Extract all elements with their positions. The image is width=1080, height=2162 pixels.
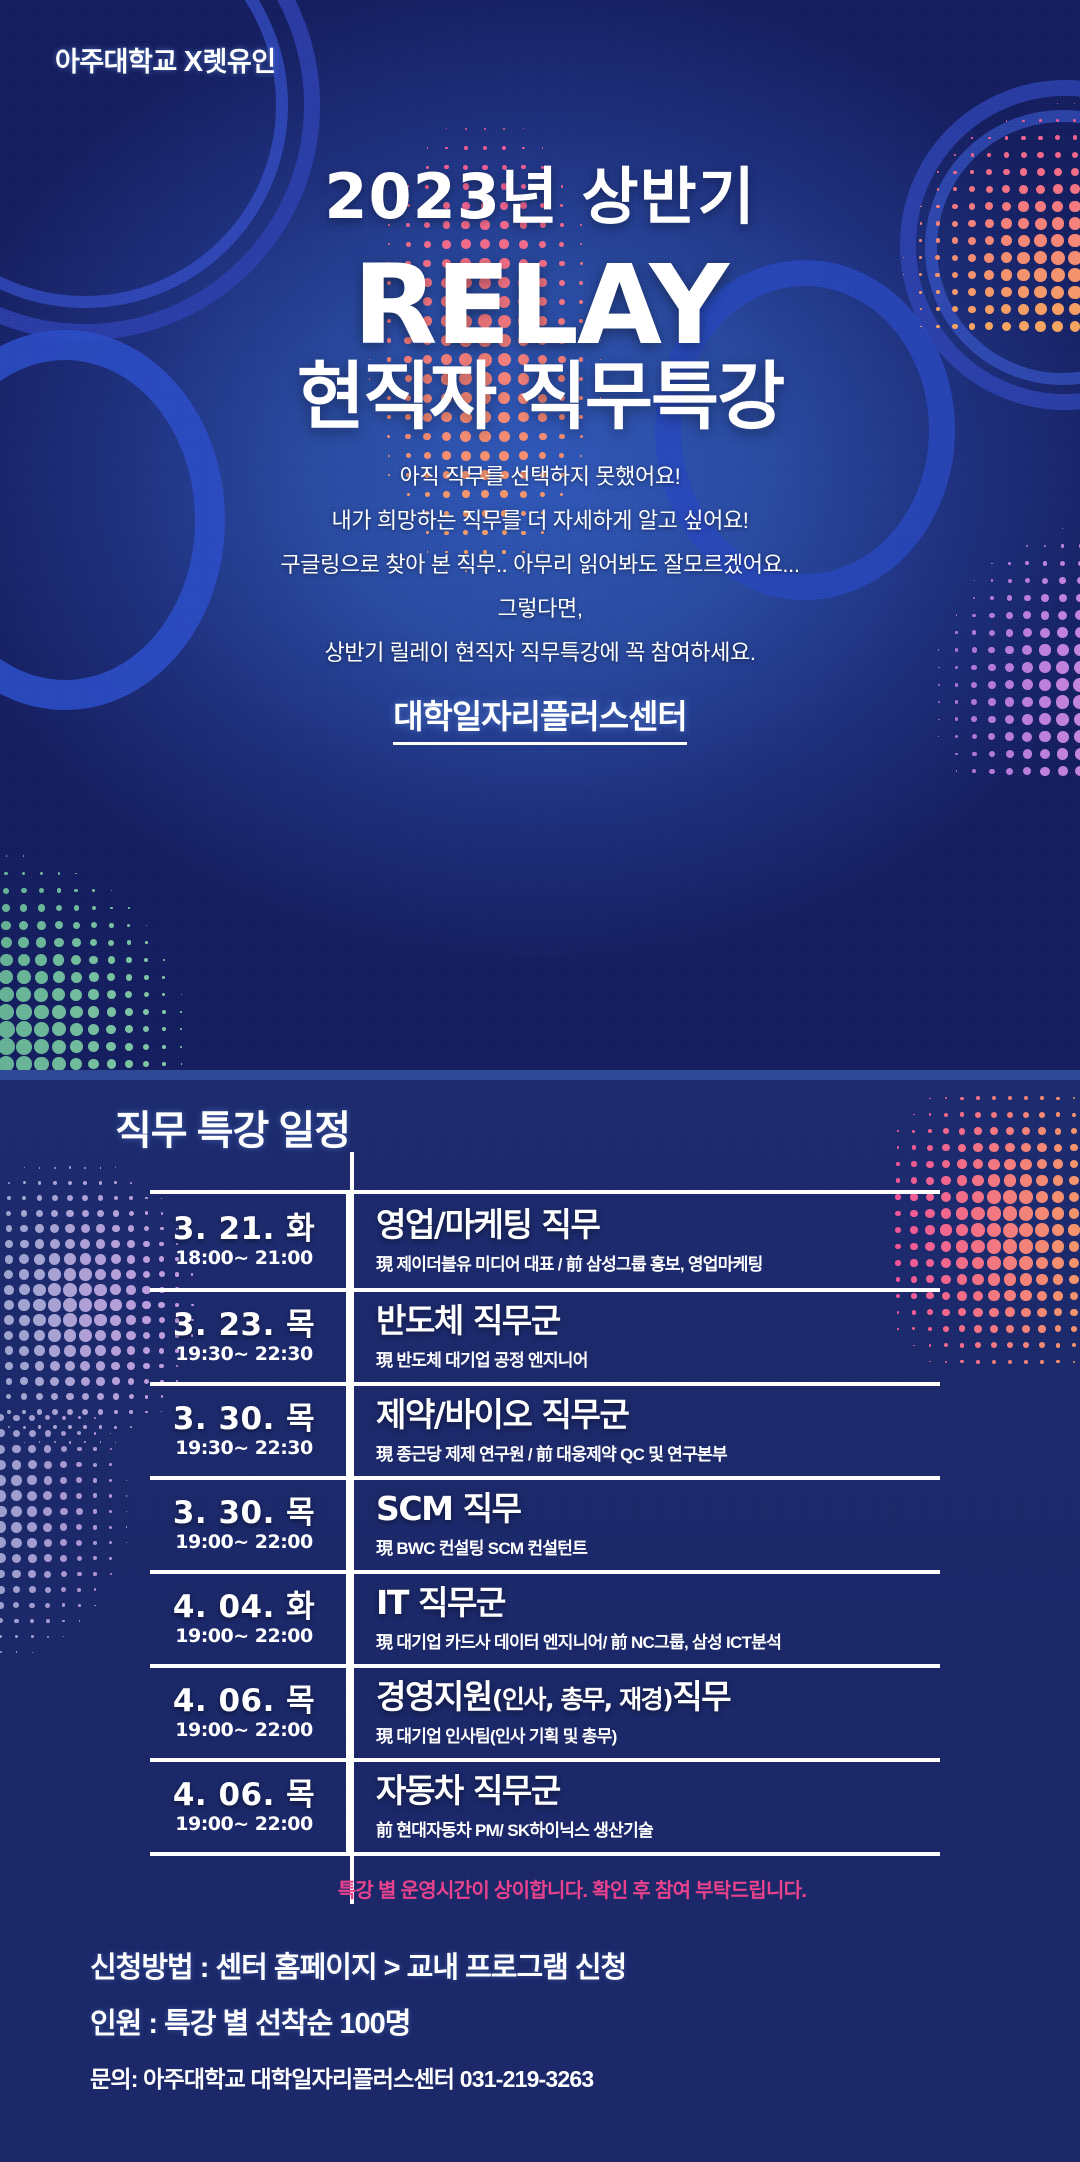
halftone-dot — [926, 1177, 934, 1185]
halftone-dot — [109, 1526, 112, 1529]
halftone-dot — [943, 1128, 949, 1134]
halftone-dot — [69, 1441, 71, 1443]
halftone-dot — [29, 1586, 36, 1593]
halftone-dot — [76, 1524, 82, 1530]
halftone-dot — [144, 975, 149, 980]
halftone-dot — [126, 1542, 127, 1543]
halftone-dot — [79, 1620, 81, 1622]
halftone-dot — [1072, 1343, 1076, 1347]
halftone-dot — [34, 1330, 46, 1342]
halftone-dot — [1006, 1325, 1014, 1333]
halftone-dot — [12, 1570, 21, 1579]
halftone-dot — [99, 1181, 103, 1185]
halftone-dot — [76, 1540, 82, 1546]
halftone-dot — [64, 1253, 76, 1265]
halftone-dot — [144, 992, 149, 997]
halftone-dot — [1070, 1292, 1078, 1300]
halftone-dot — [35, 1377, 43, 1385]
halftone-dot — [50, 1361, 60, 1371]
halftone-dot — [130, 1182, 132, 1184]
halftone-dot — [52, 1005, 66, 1019]
halftone-dot — [88, 1024, 99, 1035]
halftone-dot — [1020, 1290, 1031, 1301]
halftone-dot — [126, 1511, 128, 1513]
halftone-dot — [3, 888, 9, 894]
schedule-row-title-paren: (인사, 총무, 재경) — [492, 1685, 672, 1714]
halftone-dot — [0, 987, 14, 1002]
halftone-dot — [5, 1255, 14, 1264]
halftone-dot — [1069, 1241, 1080, 1252]
halftone-dot — [6, 1225, 13, 1232]
halftone-dot — [53, 1181, 57, 1185]
halftone-dot — [37, 921, 46, 930]
halftone-dot — [0, 1004, 14, 1020]
halftone-dot — [144, 1379, 149, 1384]
halftone-dot — [1038, 1325, 1045, 1332]
halftone-dot — [83, 1425, 87, 1429]
halftone-dot — [62, 1416, 66, 1420]
halftone-dot — [19, 1254, 29, 1264]
halftone-dot — [38, 904, 45, 911]
halftone-dot — [956, 1240, 968, 1252]
halftone-dot — [955, 753, 958, 756]
halftone-dot — [1035, 1223, 1049, 1237]
halftone-dot — [94, 1432, 97, 1435]
halftone-dot — [81, 1224, 90, 1233]
halftone-dot — [971, 1223, 985, 1237]
halftone-dot — [1039, 679, 1051, 691]
halftone-dot — [99, 1425, 103, 1429]
halftone-dot — [1020, 1174, 1032, 1186]
halftone-dot — [181, 1063, 182, 1064]
halftone-dot — [991, 1342, 997, 1348]
halftone-dot — [7, 1410, 11, 1414]
halftone-dot — [960, 1097, 963, 1100]
halftone-dot — [56, 905, 62, 911]
brand-university: 아주대학교 — [55, 47, 184, 77]
schedule-row-time: 19:00~ 22:00 — [175, 1813, 313, 1835]
halftone-dot — [23, 855, 24, 856]
section-divider — [0, 1070, 1080, 1080]
halftone-dot — [163, 959, 165, 961]
halftone-dot — [94, 1284, 106, 1296]
halftone-dot — [96, 1361, 106, 1371]
halftone-dot — [941, 1176, 951, 1186]
halftone-dot — [76, 1493, 82, 1499]
halftone-dot — [37, 1409, 42, 1414]
halftone-dot — [15, 1635, 18, 1638]
halftone-dot — [11, 1475, 21, 1485]
halftone-dot — [34, 1254, 45, 1265]
schedule-row-date-cell: 4. 04. 화19:00~ 22:00 — [150, 1574, 350, 1664]
schedule-row-date-cell: 4. 06. 목19:00~ 22:00 — [150, 1668, 350, 1758]
schedule-row-info-cell: 경영지원(인사, 총무, 재경)직무現 대기업 인사팀(인사 기획 및 총무) — [350, 1668, 940, 1758]
halftone-dot — [21, 1393, 27, 1399]
halftone-dot — [93, 1541, 98, 1546]
halftone-dot — [77, 1572, 82, 1577]
halftone-dot — [40, 872, 43, 875]
schedule-notice: 특강 별 운영시간이 상이합니다. 확인 후 참여 부탁드립니다. — [204, 1874, 940, 1903]
halftone-dot — [44, 1461, 52, 1469]
halftone-dot — [1022, 679, 1033, 690]
halftone-dot — [115, 1442, 116, 1443]
halftone-dot — [111, 1362, 120, 1371]
halftone-dot — [33, 1299, 46, 1312]
halftone-dot — [987, 1206, 1001, 1220]
halftone-dot — [6, 1211, 11, 1216]
halftone-dot — [5, 1240, 13, 1248]
halftone-dot — [19, 1269, 30, 1280]
schedule-row-time: 19:00~ 22:00 — [175, 1625, 313, 1647]
halftone-dot — [960, 1360, 963, 1363]
halftone-dot — [912, 1145, 916, 1149]
halftone-dot — [54, 1441, 56, 1443]
halftone-dot — [82, 1210, 89, 1217]
halftone-dot — [1019, 1239, 1033, 1253]
halftone-dot — [32, 1652, 33, 1653]
halftone-dot — [959, 1325, 966, 1332]
halftone-dot — [61, 1571, 67, 1577]
halftone-dot — [896, 1178, 901, 1183]
schedule-row-title: IT 직무군 — [376, 1585, 940, 1621]
schedule-row-title: 반도체 직무군 — [376, 1303, 940, 1339]
halftone-dot — [1052, 1257, 1064, 1269]
hero-subtitle: 현직자 직무특강 — [0, 358, 1080, 438]
halftone-dot — [1006, 750, 1014, 758]
halftone-dot — [53, 954, 64, 965]
halftone-dot — [1068, 1224, 1079, 1235]
halftone-dot — [162, 1027, 166, 1031]
halftone-dot — [52, 1022, 66, 1036]
halftone-dot — [126, 1300, 136, 1310]
halftone-dot — [126, 1480, 127, 1481]
halftone-dot — [80, 1253, 92, 1265]
halftone-dot — [943, 1326, 949, 1332]
halftone-dot — [1052, 1191, 1064, 1203]
halftone-dot — [1040, 767, 1049, 776]
halftone-dot — [44, 1571, 51, 1578]
halftone-dot — [1055, 1128, 1062, 1135]
halftone-dot — [4, 1270, 13, 1279]
halftone-dot — [20, 1377, 28, 1385]
halftone-dot — [1005, 680, 1014, 689]
halftone-dot — [16, 1021, 32, 1037]
halftone-dot — [1056, 1360, 1059, 1363]
halftone-dot — [113, 1393, 119, 1399]
halftone-dot — [991, 1112, 997, 1118]
halftone-dot — [27, 1475, 37, 1485]
halftone-dot — [0, 1570, 5, 1579]
halftone-dot — [958, 1144, 966, 1152]
halftone-dot — [1036, 1257, 1049, 1270]
halftone-dot — [897, 1146, 900, 1149]
halftone-dot — [989, 751, 995, 757]
halftone-dot — [88, 1059, 99, 1070]
brand-x-icon: X — [184, 46, 203, 78]
halftone-dot — [988, 1174, 1000, 1186]
halftone-dot — [52, 1195, 58, 1201]
halftone-dot — [1004, 1290, 1015, 1301]
halftone-dot — [48, 1283, 61, 1296]
halftone-dot — [987, 1190, 1000, 1203]
halftone-dot — [1007, 1342, 1013, 1348]
halftone-dot — [114, 1426, 117, 1429]
halftone-dot — [19, 1315, 30, 1326]
halftone-dot — [95, 1330, 107, 1342]
halftone-dot — [19, 1284, 30, 1295]
halftone-dot — [93, 1493, 98, 1498]
halftone-dot — [67, 1195, 73, 1201]
halftone-dot — [1037, 1308, 1046, 1317]
halftone-dot — [0, 970, 13, 984]
halftone-dot — [108, 956, 115, 963]
halftone-dot — [16, 1039, 32, 1055]
halftone-dot — [129, 1211, 134, 1216]
halftone-dot — [911, 1177, 917, 1183]
halftone-dot — [446, 128, 447, 129]
hero-section: 아주대학교 X렛유인 2023년 상반기 RELAY 현직자 직무특강 아직 직… — [0, 0, 1080, 1070]
halftone-dot — [973, 1291, 983, 1301]
blurb-line: 상반기 릴레이 현직자 직무특강에 꼭 참여하세요. — [0, 631, 1080, 675]
halftone-dot — [71, 972, 82, 983]
halftone-dot — [1052, 1240, 1064, 1252]
schedule-row: 3. 21. 화18:00~ 21:00영업/마케팅 직무現 제이더블유 미디어… — [150, 1194, 940, 1288]
halftone-dot — [0, 1475, 6, 1486]
halftone-dot — [1052, 1207, 1064, 1219]
halftone-dot — [1056, 1112, 1061, 1117]
halftone-dot — [972, 1257, 985, 1270]
halftone-dot — [1073, 1097, 1075, 1099]
halftone-dot — [109, 1510, 112, 1513]
schedule-row-time: 18:00~ 21:00 — [175, 1247, 313, 1269]
halftone-dot — [0, 954, 13, 967]
halftone-dot — [1039, 1342, 1045, 1348]
halftone-dot — [73, 922, 80, 929]
halftone-dot — [957, 1175, 968, 1186]
halftone-dot — [49, 1345, 61, 1357]
halftone-dot — [990, 1325, 998, 1333]
halftone-dot — [18, 1299, 29, 1310]
halftone-dot — [47, 1636, 49, 1638]
halftone-dot — [70, 1058, 82, 1070]
halftone-dot — [98, 1409, 103, 1414]
halftone-dot — [60, 1492, 68, 1500]
halftone-dot — [1057, 748, 1068, 759]
halftone-dot — [1056, 1097, 1059, 1100]
halftone-dot — [95, 1269, 107, 1281]
halftone-dot — [0, 1506, 7, 1518]
schedule-row-time: 19:00~ 22:00 — [175, 1531, 313, 1553]
halftone-dot — [77, 1447, 82, 1452]
halftone-dot — [125, 991, 132, 998]
halftone-dot — [107, 990, 116, 999]
halftone-dot — [78, 1416, 81, 1419]
halftone-dot — [1023, 1112, 1029, 1118]
schedule-row-speaker: 現 대기업 카드사 데이터 엔지니어/ 前 NC그룹, 삼성 ICT분석 — [376, 1628, 940, 1653]
halftone-dot — [107, 973, 115, 981]
halftone-dot — [127, 1255, 136, 1264]
halftone-dot — [974, 1325, 981, 1332]
halftone-dot — [111, 1346, 121, 1356]
halftone-dot — [1037, 1143, 1046, 1152]
halftone-dot — [19, 1346, 29, 1356]
halftone-dot — [1003, 1206, 1018, 1221]
halftone-dot — [76, 1462, 82, 1468]
halftone-dot — [29, 1603, 35, 1609]
footer-capacity: 인원 : 특강 별 선착순 100명 — [90, 2000, 410, 2042]
halftone-dot — [1006, 1127, 1014, 1135]
halftone-dot — [27, 1506, 37, 1516]
halftone-dot — [16, 1651, 18, 1653]
halftone-dot — [110, 1299, 121, 1310]
halftone-dot — [22, 872, 25, 875]
halftone-dot — [109, 1479, 112, 1482]
halftone-dot — [21, 888, 27, 894]
halftone-dot — [988, 681, 996, 689]
halftone-dot — [145, 1197, 147, 1199]
halftone-dot — [1003, 1256, 1017, 1270]
halftone-dot — [1036, 1274, 1048, 1286]
halftone-dot — [45, 1415, 50, 1420]
halftone-dot — [971, 1207, 984, 1220]
halftone-dot — [44, 1539, 53, 1548]
halftone-dot — [110, 1315, 121, 1326]
center-name: 대학일자리플러스센터 — [393, 698, 687, 745]
halftone-dot — [39, 1167, 41, 1169]
schedule-row-title: 자동차 직무군 — [376, 1773, 940, 1809]
halftone-dot — [1036, 1175, 1048, 1187]
halftone-dot — [1024, 1360, 1028, 1364]
schedule-row-info-cell: 영업/마케팅 직무現 제이더블유 미디어 대표 / 前 삼성그룹 홍보, 영업마… — [350, 1194, 940, 1288]
halftone-dot — [1007, 1112, 1013, 1118]
halftone-dot — [55, 921, 63, 929]
halftone-dot — [60, 1461, 67, 1468]
halftone-dot — [1022, 1325, 1030, 1333]
halftone-dot — [1053, 1291, 1063, 1301]
halftone-dot — [16, 1004, 32, 1020]
halftone-dot — [52, 1409, 58, 1415]
halftone-dot — [114, 1410, 119, 1415]
halftone-dot — [12, 1445, 21, 1454]
halftone-dot — [31, 1635, 34, 1638]
halftone-dot — [20, 1240, 29, 1249]
halftone-dot — [126, 1526, 127, 1527]
halftone-dot — [60, 1539, 67, 1546]
halftone-dot — [18, 937, 29, 948]
schedule-row: 3. 30. 목19:00~ 22:00SCM 직무現 BWC 컨설팅 SCM … — [150, 1476, 940, 1570]
halftone-dot — [61, 1431, 66, 1436]
halftone-dot — [34, 1345, 45, 1356]
halftone-dot — [1053, 1274, 1064, 1285]
halftone-dot — [942, 1160, 950, 1168]
halftone-dot — [111, 1330, 122, 1341]
halftone-dot — [51, 1210, 58, 1217]
halftone-dot — [972, 752, 977, 757]
halftone-dot — [107, 1007, 116, 1016]
halftone-dot — [114, 1196, 119, 1201]
halftone-dot — [944, 1343, 948, 1347]
halftone-dot — [66, 1393, 74, 1401]
halftone-dot — [30, 1619, 34, 1623]
halftone-dot — [29, 1415, 35, 1421]
halftone-dot — [976, 1360, 980, 1364]
halftone-dot — [109, 1494, 112, 1497]
halftone-dot — [61, 1587, 66, 1592]
halftone-dot — [62, 1620, 65, 1623]
halftone-dot — [34, 1022, 49, 1037]
halftone-dot — [1036, 1191, 1049, 1204]
halftone-dot — [1005, 1143, 1015, 1153]
halftone-dot — [1039, 1112, 1045, 1118]
halftone-dot — [145, 1395, 149, 1399]
halftone-dot — [143, 1347, 150, 1354]
halftone-dot — [5, 1362, 13, 1370]
halftone-dot — [126, 1270, 135, 1279]
halftone-dot — [110, 1284, 121, 1295]
halftone-dot — [0, 1537, 6, 1548]
halftone-dot — [84, 1441, 86, 1443]
halftone-dot — [973, 1159, 983, 1169]
halftone-dot — [145, 941, 148, 944]
halftone-dot — [911, 1161, 917, 1167]
halftone-dot — [66, 1210, 74, 1218]
halftone-dot — [956, 770, 958, 772]
halftone-dot — [93, 1447, 96, 1450]
halftone-dot — [70, 1040, 83, 1053]
halftone-dot — [62, 1603, 66, 1607]
schedule-row-date: 3. 30. 목 — [173, 1403, 315, 1436]
halftone-dot — [84, 1167, 86, 1169]
halftone-dot — [107, 1059, 116, 1068]
halftone-dot — [956, 1224, 968, 1236]
schedule-table-vertical-stem — [350, 1152, 354, 1904]
halftone-dot — [96, 1377, 104, 1385]
halftone-dot — [1058, 766, 1068, 776]
halftone-dot — [1054, 1308, 1062, 1316]
halftone-dot — [11, 1522, 22, 1533]
halftone-dot — [17, 970, 31, 984]
schedule-row-speaker: 現 종근당 제제 연구원 / 前 대웅제약 QC 및 연구본부 — [376, 1440, 940, 1465]
halftone-dot — [22, 1410, 27, 1415]
halftone-dot — [106, 1025, 116, 1035]
blurb-line: 구글링으로 찾아 본 직무.. 아무리 읽어봐도 잘모르겠어요... — [0, 543, 1080, 587]
halftone-dot — [129, 1196, 133, 1200]
halftone-dots-bottom-left-green — [0, 830, 225, 1070]
halftone-dot — [988, 1273, 1000, 1285]
halftone-dot — [126, 1315, 136, 1325]
halftone-dot — [100, 1441, 102, 1443]
halftone-dot — [180, 1028, 182, 1030]
halftone-dot — [1075, 748, 1080, 759]
halftone-dot — [1035, 1207, 1048, 1220]
schedule-row-date-cell: 4. 06. 목19:00~ 22:00 — [150, 1762, 350, 1852]
halftone-dot — [21, 1210, 27, 1216]
halftone-dot — [111, 890, 112, 891]
halftone-dot — [956, 1191, 968, 1203]
halftone-dot — [957, 1291, 967, 1301]
schedule-row-date-cell: 3. 30. 목19:00~ 22:00 — [150, 1480, 350, 1570]
schedule-row-date-cell: 3. 30. 목19:30~ 22:30 — [150, 1386, 350, 1476]
halftone-dot — [1008, 1360, 1012, 1364]
halftone-dot — [1004, 1273, 1017, 1286]
halftone-dot — [82, 1393, 89, 1400]
halftone-dot — [60, 1523, 68, 1531]
halftone-dot — [1037, 1291, 1047, 1301]
hero-relay-title: RELAY — [0, 250, 1080, 360]
halftone-dot — [13, 1415, 19, 1421]
halftone-dot — [74, 905, 79, 910]
halftone-dot — [1003, 1223, 1018, 1238]
